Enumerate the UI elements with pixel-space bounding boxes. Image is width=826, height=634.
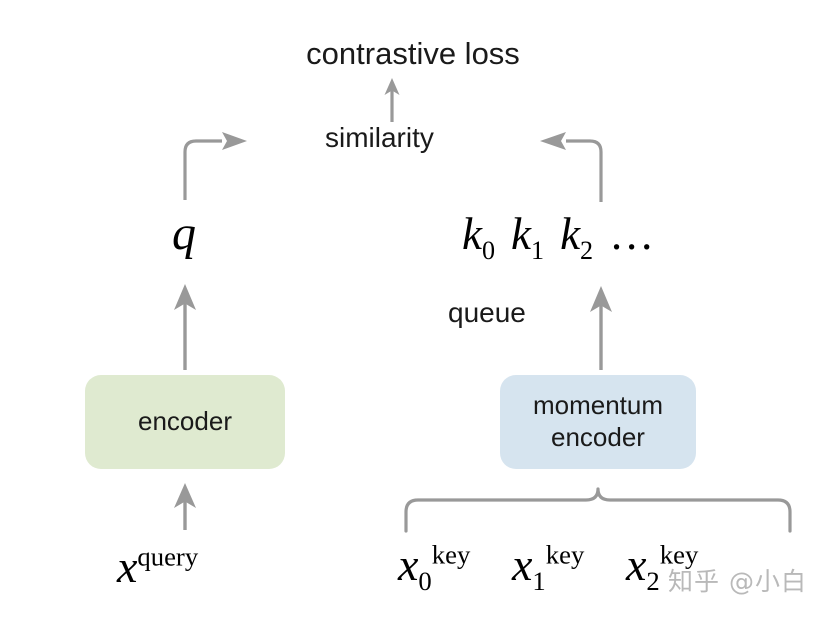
contrastive-loss-label: contrastive loss [0, 36, 826, 72]
zhihu-watermark: 知乎 @小白 [668, 562, 807, 598]
queue-label: queue [448, 297, 526, 329]
diagram-canvas: contrastive loss similarity queue q k0k1… [0, 0, 826, 634]
key-inputs-brace [406, 489, 790, 531]
similarity-label: similarity [325, 122, 434, 154]
arrow-xquery-to-encoder [174, 483, 196, 530]
momentum-encoder-line1: momentum [533, 390, 663, 420]
key-symbols-row: k0k1k2… [462, 208, 656, 266]
arrow-similarity-to-loss [385, 78, 400, 122]
momentum-encoder-line2: encoder [551, 422, 645, 452]
key-symbol-2: k2 [560, 209, 593, 259]
encoder-box-label: encoder [138, 406, 232, 438]
arrow-encoder-to-q [174, 284, 196, 370]
momentum-encoder-box[interactable]: momentum encoder [500, 375, 696, 469]
key-symbols-ellipsis: … [609, 209, 656, 259]
query-symbol: q [172, 206, 196, 261]
arrow-keys-to-similarity [540, 132, 601, 202]
x-key-symbol-0: x0key [398, 538, 470, 597]
arrow-momentum-encoder-to-keys [590, 286, 612, 370]
key-symbol-0: k0 [462, 209, 495, 259]
momentum-encoder-box-label: momentum encoder [533, 390, 663, 453]
key-symbol-1: k1 [511, 209, 544, 259]
encoder-box[interactable]: encoder [85, 375, 285, 469]
x-key-symbol-1: x1key [512, 538, 584, 597]
arrow-q-to-similarity [185, 132, 247, 200]
x-query-symbol: xquery [117, 540, 198, 593]
